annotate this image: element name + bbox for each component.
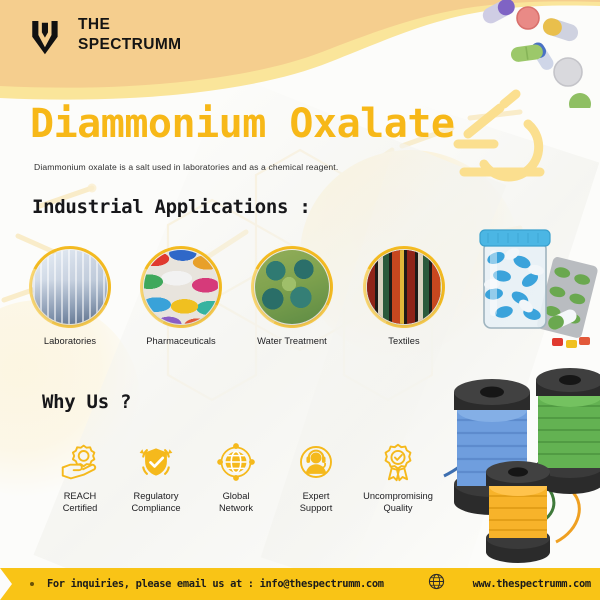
- why-label-line2: Quality: [350, 503, 446, 515]
- circle-frame: [29, 246, 111, 328]
- why-item-uncompromising-quality[interactable]: Uncompromising Quality: [350, 440, 446, 515]
- spectrumm-w-logo-icon: [27, 14, 69, 56]
- brand-name: THE SPECTRUMM: [78, 15, 182, 56]
- application-label: Textiles: [348, 336, 460, 346]
- applications-heading: Industrial Applications :: [32, 196, 310, 218]
- application-label: Water Treatment: [236, 336, 348, 346]
- applications-row: Laboratories Pharmaceuticals Water Treat…: [0, 246, 470, 366]
- brand-name-line2: SPECTRUMM: [78, 35, 182, 55]
- infographic-poster: THE SPECTRUMM: [0, 0, 600, 600]
- water-treatment-plant-aerial-photo: [255, 250, 329, 324]
- application-item-pharmaceuticals[interactable]: Pharmaceuticals: [125, 246, 237, 346]
- footer-bullet-dot: [30, 582, 34, 586]
- why-us-heading: Why Us ?: [42, 391, 131, 413]
- woven-textile-pattern-photo: [367, 250, 441, 324]
- footer-email[interactable]: info@thespectrumm.com: [260, 578, 384, 590]
- circle-frame: [363, 246, 445, 328]
- application-item-laboratories[interactable]: Laboratories: [14, 246, 126, 346]
- pill-jar-with-blister-pack-image: [468, 214, 600, 356]
- colorful-pills-photo: [144, 250, 218, 324]
- application-item-textiles[interactable]: Textiles: [348, 246, 460, 346]
- application-label: Pharmaceuticals: [125, 336, 237, 346]
- footer-bar: For inquiries, please email us at : info…: [0, 568, 600, 600]
- circle-frame: [251, 246, 333, 328]
- circle-frame: [140, 246, 222, 328]
- brand-logo[interactable]: THE SPECTRUMM: [27, 14, 182, 56]
- page-title: Diammonium Oxalate: [30, 104, 454, 144]
- application-label: Laboratories: [14, 336, 126, 346]
- quality-badge-check-icon: [350, 440, 446, 484]
- why-label-line1: Uncompromising: [350, 491, 446, 503]
- footer-inquiry-text: For inquiries, please email us at : info…: [47, 578, 384, 590]
- scattered-pills-image: [440, 0, 600, 108]
- why-item-label: Uncompromising Quality: [350, 491, 446, 515]
- footer-website[interactable]: www.thespectrumm.com: [473, 578, 591, 590]
- brand-name-line1: THE: [78, 15, 182, 35]
- globe-icon: [428, 573, 445, 595]
- laboratory-glassware-photo: [33, 250, 107, 324]
- pill-jar-illustration: [468, 214, 600, 356]
- why-us-row: REACH Certified: [0, 440, 470, 540]
- pills-illustration: [440, 0, 600, 108]
- page-subtitle: Diammonium oxalate is a salt used in lab…: [34, 162, 338, 172]
- footer-inquiry-label: For inquiries, please email us at :: [47, 578, 254, 590]
- application-item-water-treatment[interactable]: Water Treatment: [236, 246, 348, 346]
